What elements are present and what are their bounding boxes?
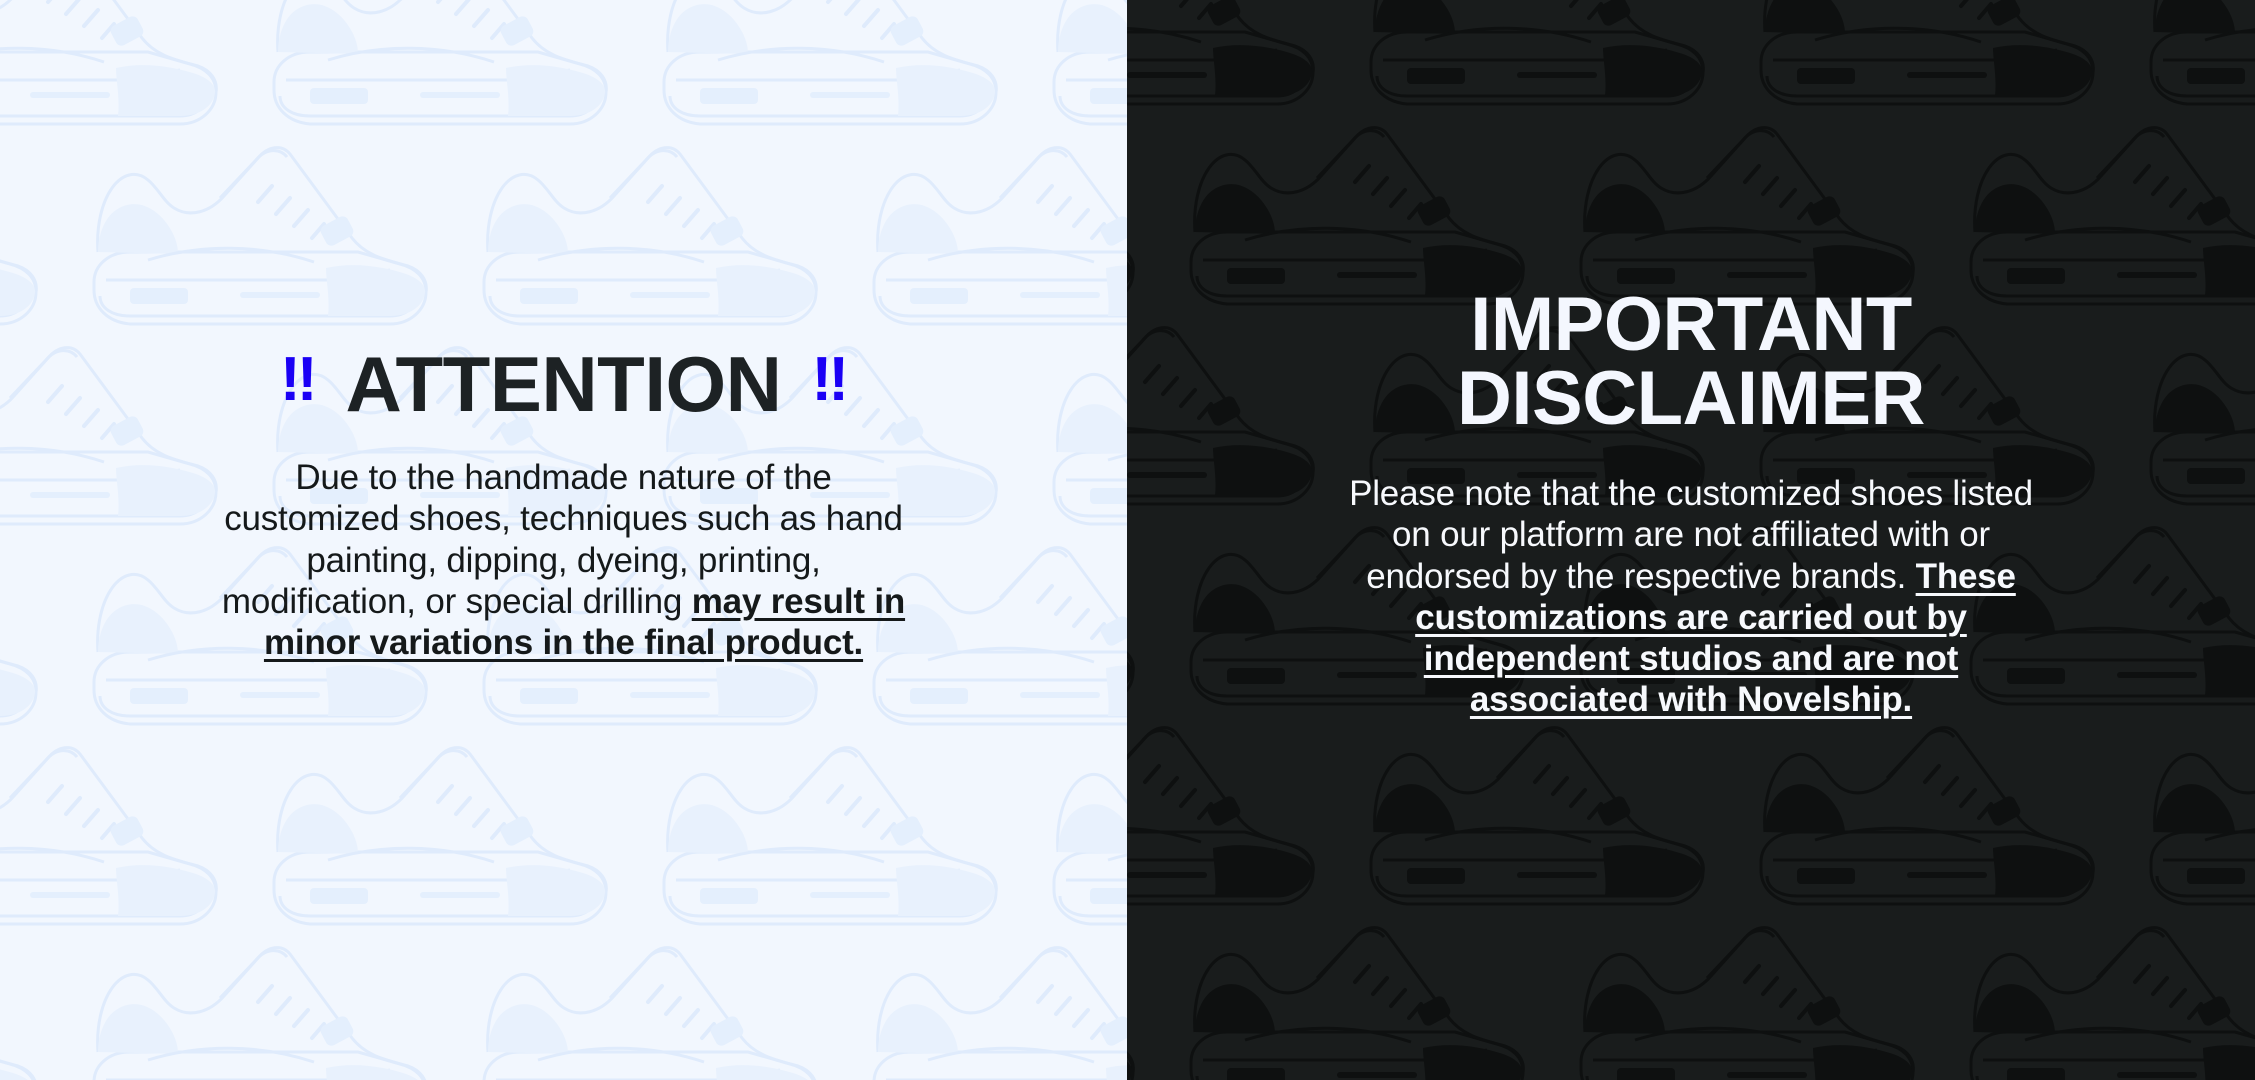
attention-body: Due to the handmade nature of the custom… <box>214 457 914 663</box>
disclaimer-heading-line1: IMPORTANT <box>1470 282 1912 367</box>
disclaimer-body: Please note that the customized shoes li… <box>1331 473 2051 721</box>
double-exclamation-icon-right: ‼ <box>812 349 847 411</box>
disclaimer-heading-line2: DISCLAIMER <box>1457 356 1925 441</box>
attention-heading: ‼ ATTENTION ‼ <box>280 345 847 423</box>
disclaimer-banner: ‼ ATTENTION ‼ Due to the handmade nature… <box>0 0 2255 1080</box>
double-exclamation-icon-left: ‼ <box>280 349 315 411</box>
disclaimer-panel: IMPORTANT DISCLAIMER Please note that th… <box>1127 0 2255 1080</box>
disclaimer-heading: IMPORTANT DISCLAIMER <box>1241 288 2141 437</box>
attention-panel: ‼ ATTENTION ‼ Due to the handmade nature… <box>0 0 1127 1080</box>
attention-heading-text: ATTENTION <box>345 345 781 423</box>
